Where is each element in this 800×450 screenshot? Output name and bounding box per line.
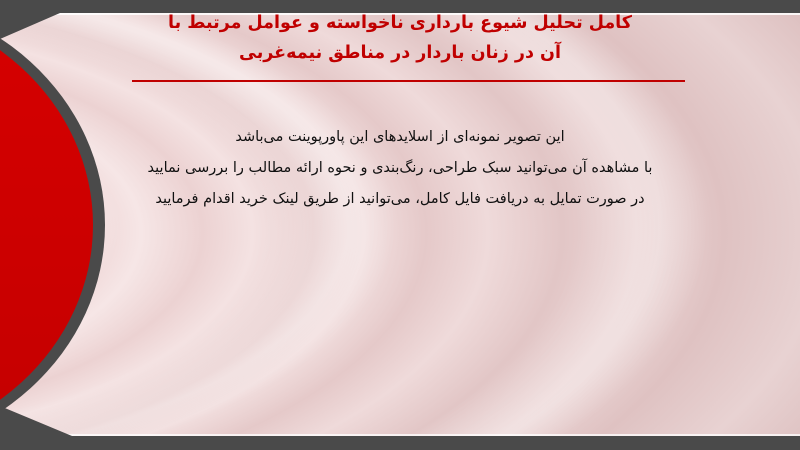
slide-title-line-1: کامل تحلیل شیوع بارداری ناخواسته و عوامل… [110,8,690,38]
slide-body: این تصویر نمونه‌ای از اسلایدهای این پاور… [92,122,708,215]
presentation-slide: کامل تحلیل شیوع بارداری ناخواسته و عوامل… [0,0,800,450]
slide-body-line-2: با مشاهده آن می‌توانید سبک طراحی، رنگ‌بن… [92,153,708,184]
slide-body-line-3: در صورت تمایل به دریافت فایل کامل، می‌تو… [92,184,708,215]
slide-title: کامل تحلیل شیوع بارداری ناخواسته و عوامل… [110,8,690,68]
slide-title-line-2: آن در زنان باردار در مناطق نیمه‌غربی [110,38,690,68]
title-underline-rule [132,80,685,82]
slide-content: کامل تحلیل شیوع بارداری ناخواسته و عوامل… [0,0,800,450]
slide-body-line-1: این تصویر نمونه‌ای از اسلایدهای این پاور… [92,122,708,153]
